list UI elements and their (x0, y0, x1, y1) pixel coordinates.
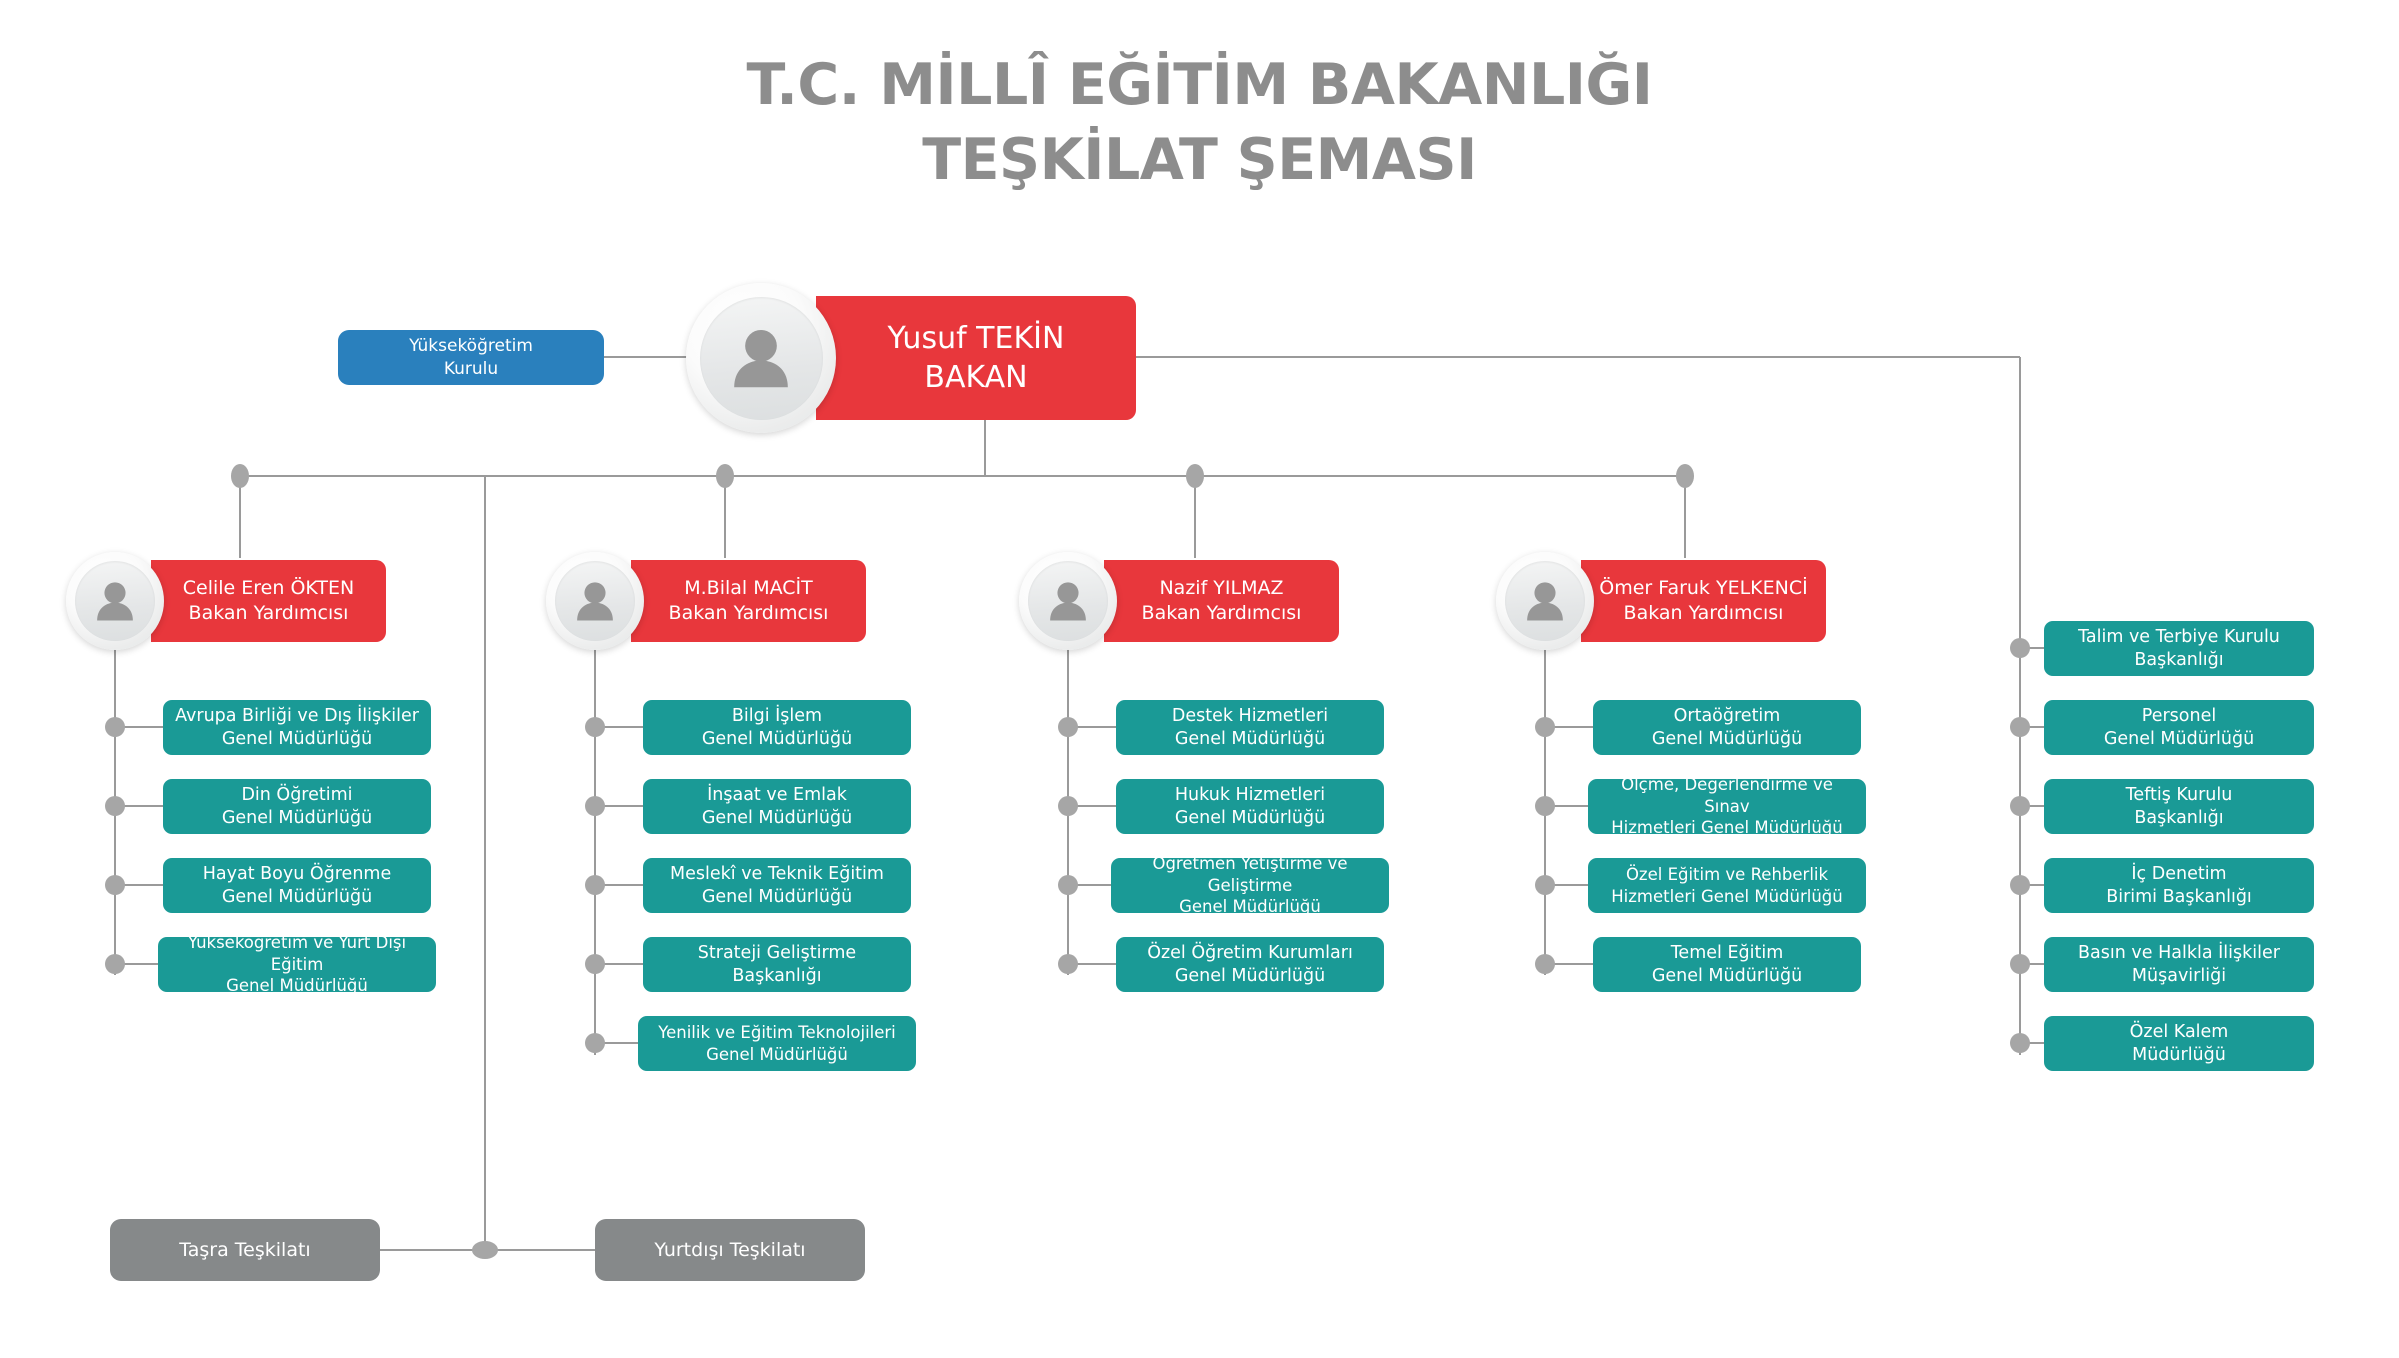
unit-box-c3-2[interactable]: Hukuk Hizmetleri Genel Müdürlüğü (1116, 779, 1384, 834)
unit-box-c2-3[interactable]: Meslekî ve Teknik Eğitim Genel Müdürlüğü (643, 858, 911, 913)
unit-box-c1-2[interactable]: Din Öğretimi Genel Müdürlüğü (163, 779, 431, 834)
unit-box-c4-1[interactable]: Ortaöğretim Genel Müdürlüğü (1593, 700, 1861, 755)
page-title-line1: T.C. MİLLÎ EĞİTİM BAKANLIĞI (747, 52, 1653, 118)
unit-box-c1-1[interactable]: Avrupa Birliği ve Dış İlişkiler Genel Mü… (163, 700, 431, 755)
unit-box-r-4[interactable]: İç Denetim Birimi Başkanlığı (2044, 858, 2314, 913)
deputy-role-4: Bakan Yardımcısı (1624, 601, 1784, 626)
deputy-plate-3: Nazif YILMAZ Bakan Yardımcısı (1104, 560, 1339, 642)
deputy-name-1: Celile Eren ÖKTEN (183, 576, 354, 601)
yurtdisi-teskilati-box[interactable]: Yurtdışı Teşkilatı (595, 1219, 865, 1281)
unit-box-c4-3[interactable]: Özel Eğitim ve Rehberlik Hizmetleri Gene… (1588, 858, 1866, 913)
unit-box-r-6[interactable]: Özel Kalem Müdürlüğü (2044, 1016, 2314, 1071)
unit-box-c2-5[interactable]: Yenilik ve Eğitim Teknolojileri Genel Mü… (638, 1016, 916, 1071)
unit-box-c3-1[interactable]: Destek Hizmetleri Genel Müdürlüğü (1116, 700, 1384, 755)
deputy-name-4: Ömer Faruk YELKENCİ (1599, 576, 1807, 601)
minister-card[interactable]: Yusuf TEKİN BAKAN (686, 283, 1136, 433)
deputy-card-3[interactable]: Nazif YILMAZ Bakan Yardımcısı (1019, 552, 1339, 650)
unit-box-c4-2[interactable]: Ölçme, Değerlendirme ve Sınav Hizmetleri… (1588, 779, 1866, 834)
unit-box-c4-4[interactable]: Temel Eğitim Genel Müdürlüğü (1593, 937, 1861, 992)
minister-role: BAKAN (924, 358, 1027, 397)
user-avatar-icon (546, 552, 644, 650)
unit-box-r-2[interactable]: Personel Genel Müdürlüğü (2044, 700, 2314, 755)
tasra-teskilati-box[interactable]: Taşra Teşkilatı (110, 1219, 380, 1281)
deputy-name-3: Nazif YILMAZ (1159, 576, 1283, 601)
user-avatar-icon (66, 552, 164, 650)
deputy-plate-2: M.Bilal MACİT Bakan Yardımcısı (631, 560, 866, 642)
deputy-name-2: M.Bilal MACİT (684, 576, 813, 601)
user-avatar-icon (1496, 552, 1594, 650)
unit-box-c3-3[interactable]: Öğretmen Yetiştirme ve Geliştirme Genel … (1111, 858, 1389, 913)
user-avatar-icon (1019, 552, 1117, 650)
deputy-role-3: Bakan Yardımcısı (1142, 601, 1302, 626)
page-title-line2: TEŞKİLAT ŞEMASI (0, 123, 2399, 198)
connector-lines (0, 0, 2399, 1358)
unit-box-r-1[interactable]: Talim ve Terbiye Kurulu Başkanlığı (2044, 621, 2314, 676)
deputy-plate-1: Celile Eren ÖKTEN Bakan Yardımcısı (151, 560, 386, 642)
minister-name: Yusuf TEKİN (888, 319, 1065, 358)
deputy-role-2: Bakan Yardımcısı (669, 601, 829, 626)
unit-box-c3-4[interactable]: Özel Öğretim Kurumları Genel Müdürlüğü (1116, 937, 1384, 992)
org-chart-canvas: T.C. MİLLÎ EĞİTİM BAKANLIĞI TEŞKİLAT ŞEM… (0, 0, 2399, 1358)
deputy-card-1[interactable]: Celile Eren ÖKTEN Bakan Yardımcısı (66, 552, 386, 650)
deputy-plate-4: Ömer Faruk YELKENCİ Bakan Yardımcısı (1581, 560, 1826, 642)
deputy-card-4[interactable]: Ömer Faruk YELKENCİ Bakan Yardımcısı (1496, 552, 1826, 650)
yuksekogretim-kurulu-box[interactable]: Yükseköğretim Kurulu (338, 330, 604, 385)
unit-box-r-5[interactable]: Basın ve Halkla İlişkiler Müşavirliği (2044, 937, 2314, 992)
deputy-role-1: Bakan Yardımcısı (189, 601, 349, 626)
unit-box-c2-1[interactable]: Bilgi İşlem Genel Müdürlüğü (643, 700, 911, 755)
unit-box-c1-3[interactable]: Hayat Boyu Öğrenme Genel Müdürlüğü (163, 858, 431, 913)
deputy-card-2[interactable]: M.Bilal MACİT Bakan Yardımcısı (546, 552, 866, 650)
page-title: T.C. MİLLÎ EĞİTİM BAKANLIĞI TEŞKİLAT ŞEM… (0, 48, 2399, 198)
user-avatar-icon (686, 283, 836, 433)
minister-plate: Yusuf TEKİN BAKAN (816, 296, 1136, 420)
unit-box-c2-2[interactable]: İnşaat ve Emlak Genel Müdürlüğü (643, 779, 911, 834)
unit-box-r-3[interactable]: Teftiş Kurulu Başkanlığı (2044, 779, 2314, 834)
unit-box-c1-4[interactable]: Yükseköğretim ve Yurt Dışı Eğitim Genel … (158, 937, 436, 992)
unit-box-c2-4[interactable]: Strateji Geliştirme Başkanlığı (643, 937, 911, 992)
